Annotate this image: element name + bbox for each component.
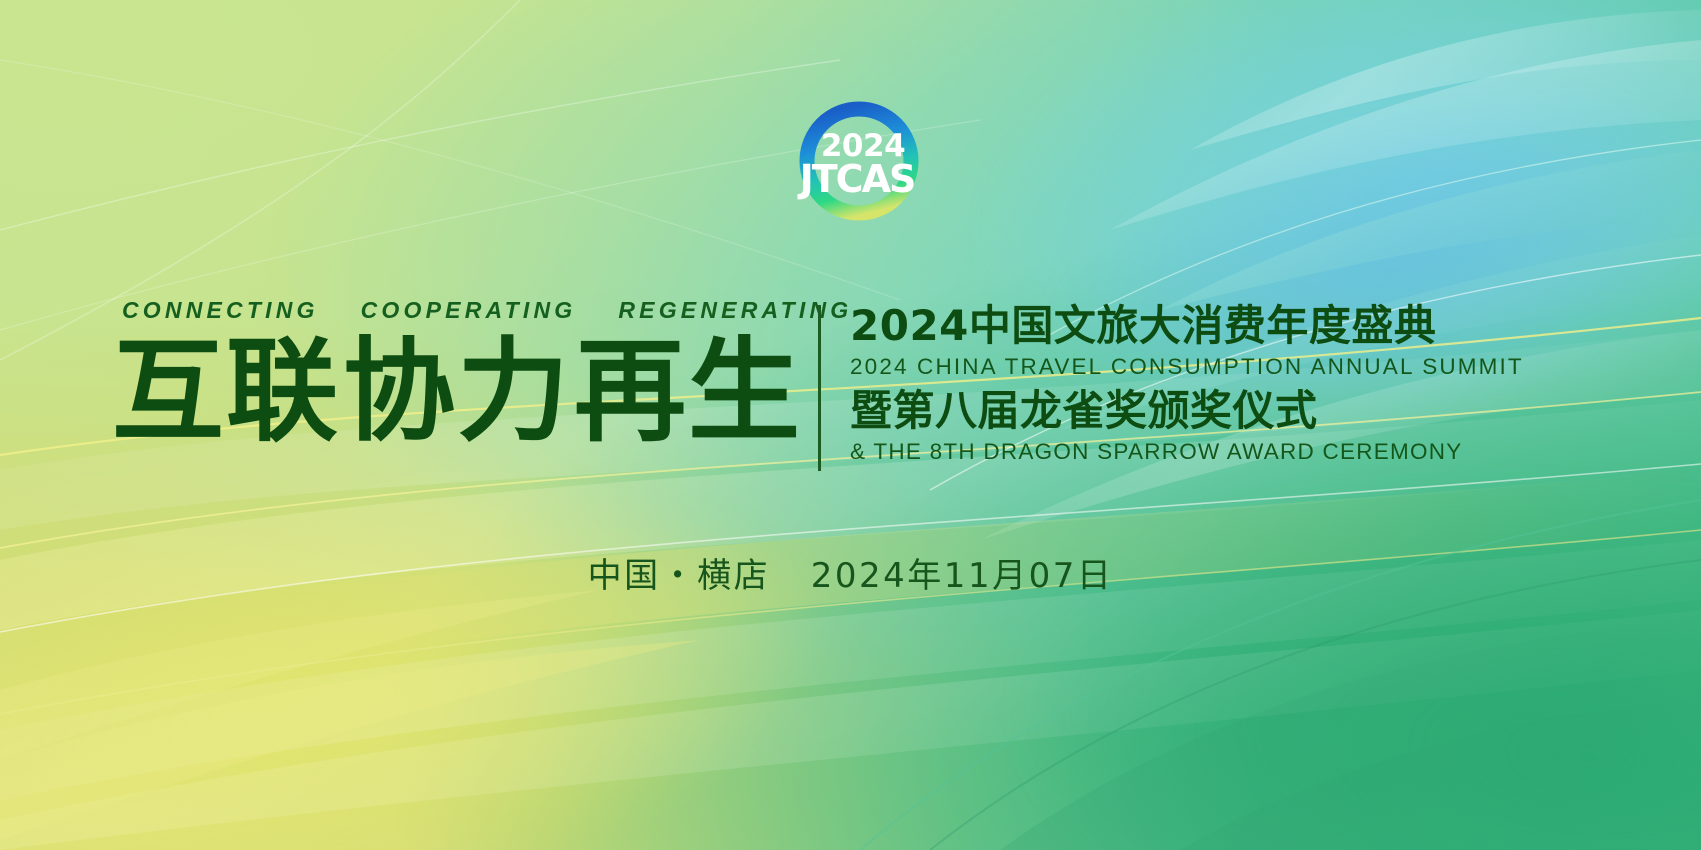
title-en-secondary: & THE 8TH DRAGON SPARROW AWARD CEREMONY [850, 439, 1490, 465]
event-location: 中国・横店 [588, 556, 771, 596]
title-block: 2024中国文旅大消费年度盛典 2024 CHINA TRAVEL CONSUM… [850, 302, 1490, 465]
event-footer: 中国・横店 2024年11月07日 [0, 548, 1701, 597]
svg-text:JTCAS: JTCAS [797, 157, 915, 201]
tagline: CONNECTING COOPERATING REGENERATING [112, 297, 802, 324]
title-en-primary: 2024 CHINA TRAVEL CONSUMPTION ANNUAL SUM… [850, 354, 1490, 380]
headline-word-2: 协力 [343, 332, 571, 453]
tagline-word-2: COOPERATING [361, 297, 577, 324]
headline-word-3: 再生 [574, 332, 802, 453]
event-banner: 2024 JTCAS CONNECTING COOPERATING REGENE… [0, 0, 1701, 850]
vertical-divider [818, 305, 821, 471]
event-date: 2024年11月07日 [811, 556, 1114, 596]
title-cn-secondary: 暨第八届龙雀奖颁奖仪式 [850, 387, 1490, 436]
headline-word-1: 互联 [112, 332, 340, 453]
title-cn-primary: 2024中国文旅大消费年度盛典 [850, 302, 1490, 351]
headline-block: CONNECTING COOPERATING REGENERATING 互联 协… [112, 297, 802, 453]
tagline-word-1: CONNECTING [122, 297, 319, 324]
headline-chinese: 互联 协力 再生 [112, 332, 802, 453]
jtcas-logo: 2024 JTCAS [794, 96, 924, 226]
